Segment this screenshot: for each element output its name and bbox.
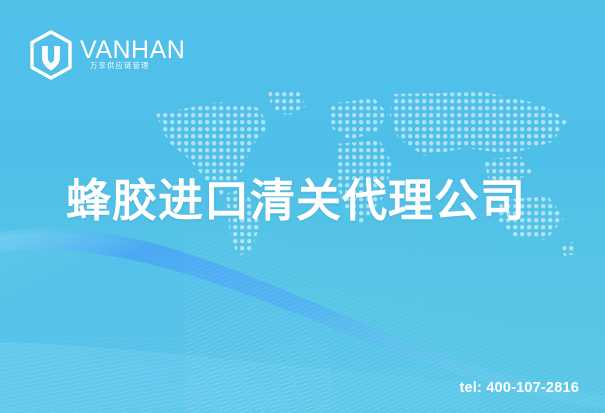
- logo[interactable]: VANHANG 万享供应链管理: [28, 30, 184, 80]
- hexagon-u-arrow-icon: [28, 30, 74, 80]
- promo-banner: VANHANG 万享供应链管理 蜂胶进口清关代理公司 tel: 400-107-…: [0, 0, 605, 413]
- logo-wordmark-sub: 万享供应链管理: [90, 61, 149, 70]
- contact-phone: tel: 400-107-2816: [460, 380, 579, 396]
- logo-wordmark: VANHANG: [80, 36, 184, 64]
- logo-wordmark-group: VANHANG 万享供应链管理: [80, 35, 184, 75]
- page-title: 蜂胶进口清关代理公司: [66, 176, 526, 226]
